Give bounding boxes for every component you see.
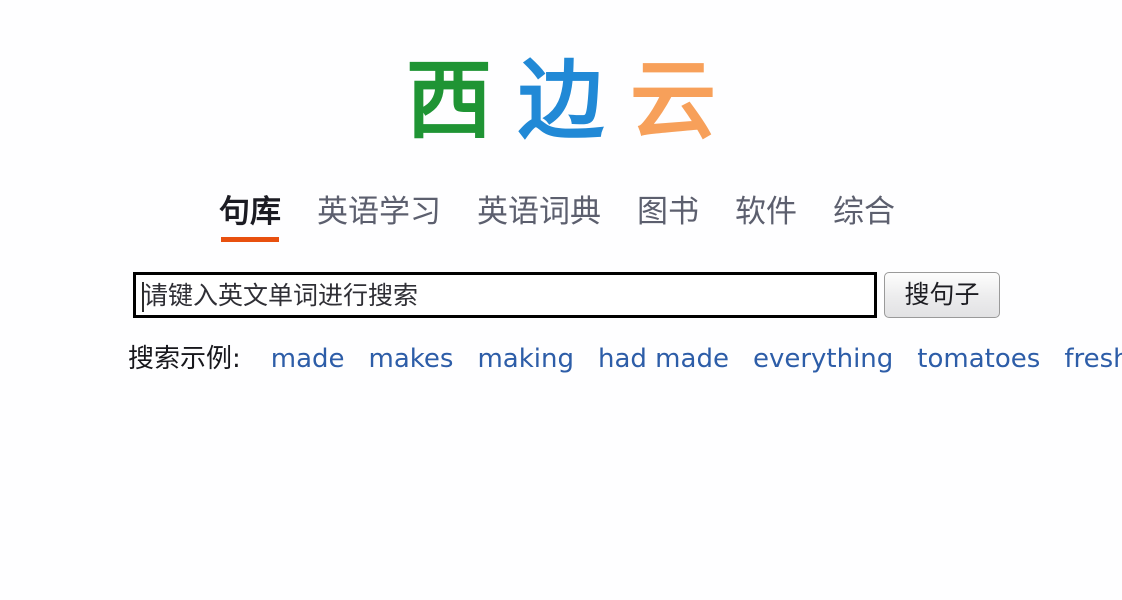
main-nav: 句库英语学习英语词典图书软件综合 xyxy=(0,186,1122,242)
search-field[interactable] xyxy=(133,272,877,318)
example-link-making[interactable]: making xyxy=(477,344,574,374)
search-examples: 搜索示例:mademakesmakinghad madeeverythingto… xyxy=(0,338,1122,380)
text-caret xyxy=(142,282,144,312)
example-link-had-made[interactable]: had made xyxy=(598,344,729,374)
logo-char-2: 边 xyxy=(518,58,604,144)
example-link-tomatoes[interactable]: tomatoes xyxy=(917,344,1040,374)
search-row: 搜句子 xyxy=(0,272,1122,318)
tab-comprehensive[interactable]: 综合 xyxy=(833,186,895,242)
example-link-made[interactable]: made xyxy=(271,344,345,374)
example-link-makes[interactable]: makes xyxy=(369,344,454,374)
search-submit-button[interactable]: 搜句子 xyxy=(884,272,1000,318)
example-link-everything[interactable]: everything xyxy=(753,344,893,374)
tab-english-dictionary[interactable]: 英语词典 xyxy=(477,186,601,242)
tab-software[interactable]: 软件 xyxy=(735,186,797,242)
page-root: 西边云 句库英语学习英语词典图书软件综合 搜句子 搜索示例:mademakesm… xyxy=(0,0,1122,600)
examples-label: 搜索示例: xyxy=(128,344,241,374)
example-link-fresh-flower[interactable]: fresh flower xyxy=(1064,344,1122,374)
site-logo[interactable]: 西边云 xyxy=(0,0,1122,144)
logo-char-3: 云 xyxy=(630,58,716,144)
tab-books[interactable]: 图书 xyxy=(637,186,699,242)
logo-char-1: 西 xyxy=(406,58,492,144)
search-input[interactable] xyxy=(136,275,874,315)
tab-english-study[interactable]: 英语学习 xyxy=(317,186,441,242)
tab-ju-ku[interactable]: 句库 xyxy=(219,186,281,242)
